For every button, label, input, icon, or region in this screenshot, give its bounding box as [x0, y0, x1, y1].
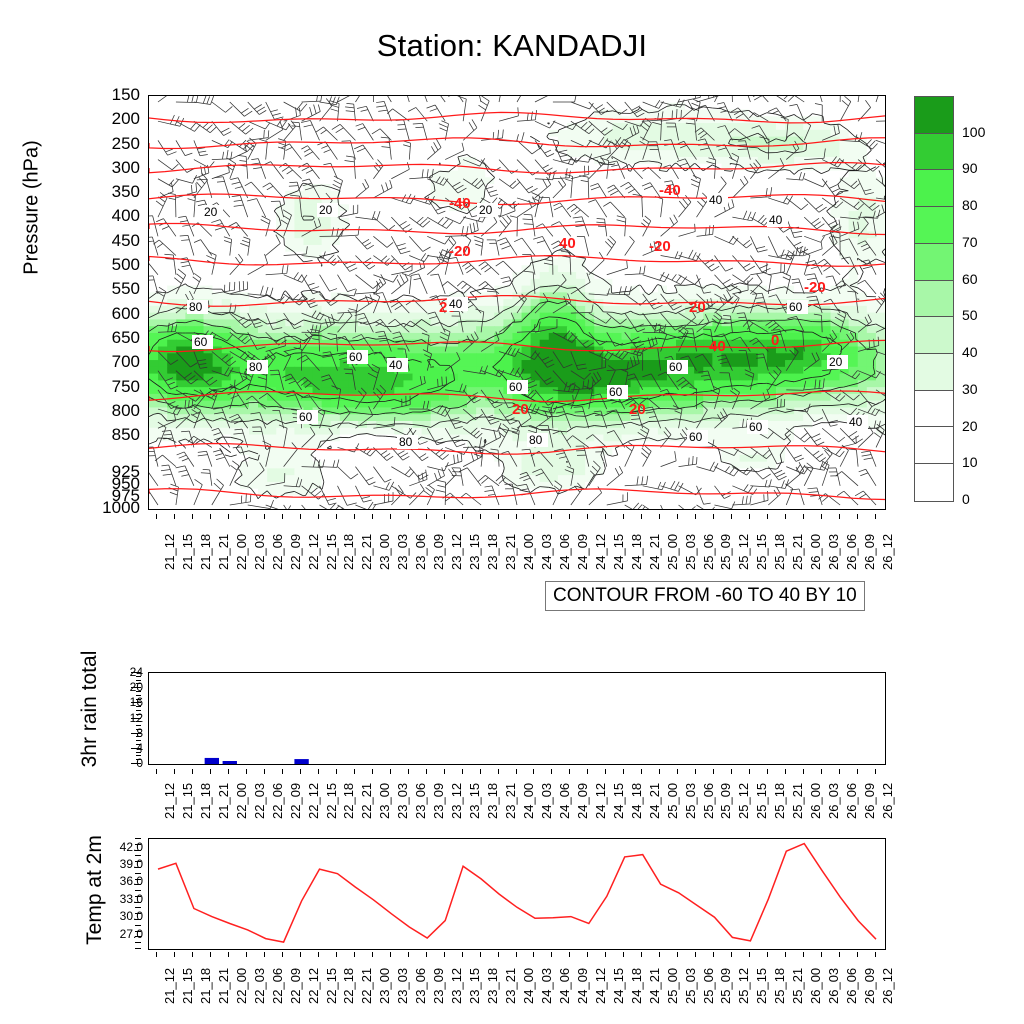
- axis-tick: [136, 683, 141, 684]
- axis-tick: [135, 838, 141, 839]
- page-title: Station: KANDADJI: [0, 28, 1024, 64]
- xaxis-tick-label: 22_09: [288, 534, 303, 570]
- axis-tick: [462, 769, 463, 774]
- xaxis-tick-label: 25_09: [718, 534, 733, 570]
- xaxis-tick-label: 26_12: [880, 968, 895, 1004]
- xaxis-tick-label: 26_09: [862, 968, 877, 1004]
- axis-tick: [623, 769, 624, 774]
- axis-tick: [135, 873, 141, 874]
- xaxis-tick-label: 26_12: [880, 534, 895, 570]
- temperature-line-plot: [148, 838, 886, 950]
- xaxis-tick-label: 24_00: [521, 968, 536, 1004]
- axis-tick: [803, 769, 804, 774]
- axis-tick: [192, 952, 193, 957]
- colorbar-tick-label: 20: [962, 418, 978, 434]
- axis-tick: [749, 514, 750, 519]
- xaxis-tick-label: 21_15: [180, 968, 195, 1004]
- axis-tick: [131, 672, 141, 673]
- xaxis-tick-label: 25_03: [683, 968, 698, 1004]
- xaxis-tick-label: 24_06: [557, 534, 572, 570]
- colorbar-tick-label: 0: [962, 491, 970, 507]
- axis-tick: [462, 952, 463, 957]
- xaxis-tick-label: 23_21: [503, 968, 518, 1004]
- cross-section-svg: -40-40-20-20-202020020204040202020404080…: [149, 96, 885, 509]
- yaxis-tick-label: 700: [80, 353, 140, 370]
- rain-panel-xtick-group: 21_1221_1521_1821_2122_0022_0322_0622_09…: [148, 769, 884, 825]
- axis-tick: [516, 514, 517, 519]
- xaxis-tick-label: 22_12: [306, 534, 321, 570]
- yaxis-tick-label: 36.0: [90, 875, 143, 887]
- axis-tick: [264, 514, 265, 519]
- axis-tick: [857, 514, 858, 519]
- axis-tick: [426, 769, 427, 774]
- axis-tick: [246, 769, 247, 774]
- axis-tick: [264, 769, 265, 774]
- xaxis-tick-label: 25_21: [790, 534, 805, 570]
- axis-tick: [300, 952, 301, 957]
- xaxis-tick-label: 23_06: [413, 534, 428, 570]
- xaxis-tick-label: 26_09: [862, 534, 877, 570]
- xaxis-tick-label: 25_06: [701, 968, 716, 1004]
- axis-tick: [551, 514, 552, 519]
- temp-panel-ytick-group: 42.039.036.033.030.027.0: [88, 832, 143, 954]
- yaxis-tick-label: 1000: [80, 499, 140, 516]
- colorbar-tick-label: 40: [962, 344, 978, 360]
- xaxis-tick-label: 22_03: [252, 534, 267, 570]
- xaxis-tick-label: 24_00: [521, 783, 536, 819]
- axis-tick: [192, 769, 193, 774]
- axis-tick: [135, 850, 141, 851]
- rain-svg: [149, 673, 885, 764]
- axis-tick: [857, 952, 858, 957]
- axis-tick: [839, 514, 840, 519]
- xaxis-tick-label: 24_18: [629, 534, 644, 570]
- axis-tick: [390, 769, 391, 774]
- axis-tick: [228, 952, 229, 957]
- rain-bar-plot: [148, 672, 886, 765]
- xaxis-tick-label: 22_21: [359, 783, 374, 819]
- axis-tick: [426, 514, 427, 519]
- yaxis-tick-label: 350: [80, 183, 140, 200]
- axis-tick: [731, 769, 732, 774]
- axis-tick: [135, 925, 141, 926]
- xaxis-tick-label: 25_03: [683, 783, 698, 819]
- axis-tick: [135, 867, 141, 868]
- humidity-colorbar: [914, 96, 954, 502]
- axis-tick: [516, 769, 517, 774]
- axis-tick: [136, 706, 141, 707]
- xaxis-tick-label: 25_00: [665, 968, 680, 1004]
- xaxis-tick-label: 24_21: [647, 534, 662, 570]
- xaxis-tick-label: 23_06: [413, 968, 428, 1004]
- xaxis-tick-label: 22_00: [234, 534, 249, 570]
- axis-tick: [677, 769, 678, 774]
- axis-tick: [135, 902, 141, 903]
- axis-tick: [135, 913, 141, 914]
- axis-tick: [731, 952, 732, 957]
- xaxis-tick-label: 21_12: [162, 534, 177, 570]
- xaxis-tick-label: 26_09: [862, 783, 877, 819]
- colorbar-swatch: [915, 391, 953, 428]
- axis-tick: [533, 952, 534, 957]
- axis-tick: [677, 952, 678, 957]
- contour-range-note: CONTOUR FROM -60 TO 40 BY 10: [545, 581, 865, 611]
- axis-tick: [408, 514, 409, 519]
- axis-tick: [372, 952, 373, 957]
- axis-tick: [480, 769, 481, 774]
- axis-tick: [135, 936, 141, 937]
- xaxis-tick-label: 26_06: [844, 534, 859, 570]
- xaxis-tick-label: 21_21: [216, 968, 231, 1004]
- axis-tick: [135, 844, 141, 845]
- xaxis-tick-label: 22_18: [341, 783, 356, 819]
- axis-tick: [136, 736, 141, 737]
- axis-tick: [156, 952, 157, 957]
- xaxis-tick-label: 21_21: [216, 534, 231, 570]
- axis-tick: [156, 769, 157, 774]
- colorbar-swatch: [915, 281, 953, 318]
- xaxis-tick-label: 25_03: [683, 534, 698, 570]
- xaxis-tick-label: 23_03: [395, 783, 410, 819]
- axis-tick: [569, 769, 570, 774]
- yaxis-tick-label: 27.0: [90, 928, 143, 940]
- axis-tick: [354, 514, 355, 519]
- axis-tick: [300, 514, 301, 519]
- xaxis-tick-label: 22_03: [252, 783, 267, 819]
- axis-tick: [821, 514, 822, 519]
- xaxis-tick-label: 23_06: [413, 783, 428, 819]
- xaxis-tick-label: 23_15: [467, 783, 482, 819]
- axis-tick: [336, 514, 337, 519]
- axis-tick: [136, 714, 141, 715]
- main-panel-xtick-group: 21_1221_1521_1821_2122_0022_0322_0622_09…: [148, 514, 884, 576]
- axis-tick: [605, 952, 606, 957]
- axis-tick: [875, 769, 876, 774]
- xaxis-tick-label: 26_03: [826, 783, 841, 819]
- axis-tick: [192, 514, 193, 519]
- xaxis-tick-label: 22_09: [288, 968, 303, 1004]
- axis-tick: [300, 769, 301, 774]
- yaxis-tick-label: 39.0: [90, 858, 143, 870]
- axis-tick: [569, 514, 570, 519]
- axis-tick: [749, 952, 750, 957]
- xaxis-tick-label: 26_06: [844, 968, 859, 1004]
- axis-tick: [659, 952, 660, 957]
- axis-tick: [318, 769, 319, 774]
- temperature-line: [158, 844, 876, 943]
- colorbar-tick-label: 30: [962, 381, 978, 397]
- axis-tick: [480, 952, 481, 957]
- xaxis-tick-label: 23_12: [449, 783, 464, 819]
- axis-tick: [695, 769, 696, 774]
- yaxis-tick-label: 200: [80, 110, 140, 127]
- axis-tick: [767, 769, 768, 774]
- xaxis-tick-label: 25_12: [736, 783, 751, 819]
- xaxis-tick-label: 23_00: [377, 968, 392, 1004]
- axis-tick: [480, 514, 481, 519]
- axis-tick: [875, 514, 876, 519]
- colorbar-swatch: [915, 207, 953, 244]
- xaxis-tick-label: 25_12: [736, 968, 751, 1004]
- axis-tick: [135, 907, 141, 908]
- axis-tick: [390, 514, 391, 519]
- xaxis-tick-label: 24_00: [521, 534, 536, 570]
- axis-tick: [821, 952, 822, 957]
- colorbar-swatch: [915, 427, 953, 464]
- colorbar-swatch: [915, 170, 953, 207]
- axis-tick: [444, 952, 445, 957]
- axis-tick: [174, 952, 175, 957]
- axis-tick: [136, 680, 141, 681]
- axis-tick: [372, 514, 373, 519]
- xaxis-tick-label: 23_00: [377, 783, 392, 819]
- axis-tick: [551, 769, 552, 774]
- axis-tick: [731, 514, 732, 519]
- axis-tick: [136, 740, 141, 741]
- xaxis-tick-label: 23_18: [485, 968, 500, 1004]
- axis-tick: [210, 952, 211, 957]
- xaxis-tick-label: 24_06: [557, 968, 572, 1004]
- axis-tick: [785, 769, 786, 774]
- xaxis-tick-label: 24_06: [557, 783, 572, 819]
- main-panel-ytick-group: 1502002503003504004505005506006507007508…: [78, 95, 140, 508]
- xaxis-tick-label: 25_18: [772, 783, 787, 819]
- axis-tick: [135, 931, 141, 932]
- xaxis-tick-label: 24_15: [611, 783, 626, 819]
- xaxis-tick-label: 25_09: [718, 968, 733, 1004]
- axis-tick: [136, 755, 141, 756]
- axis-tick: [131, 687, 141, 688]
- axis-tick: [136, 691, 141, 692]
- xaxis-tick-label: 21_18: [198, 783, 213, 819]
- axis-tick: [713, 514, 714, 519]
- xaxis-tick-label: 22_06: [270, 783, 285, 819]
- yaxis-tick-label: 150: [80, 86, 140, 103]
- xaxis-tick-label: 23_21: [503, 783, 518, 819]
- colorbar-swatch: [915, 354, 953, 391]
- xaxis-tick-label: 23_15: [467, 534, 482, 570]
- axis-tick: [695, 952, 696, 957]
- axis-tick: [131, 702, 141, 703]
- xaxis-tick-label: 24_21: [647, 783, 662, 819]
- xaxis-tick-label: 22_06: [270, 968, 285, 1004]
- xaxis-tick-label: 24_21: [647, 968, 662, 1004]
- axis-tick: [426, 952, 427, 957]
- temp-panel-xtick-group: 21_1221_1521_1821_2122_0022_0322_0622_09…: [148, 952, 884, 1010]
- axis-tick: [135, 855, 141, 856]
- xaxis-tick-label: 26_00: [808, 968, 823, 1004]
- axis-tick: [408, 952, 409, 957]
- axis-tick: [131, 718, 141, 719]
- yaxis-tick-label: 650: [80, 329, 140, 346]
- axis-tick: [136, 699, 141, 700]
- xaxis-tick-label: 21_21: [216, 783, 231, 819]
- xaxis-tick-label: 23_12: [449, 534, 464, 570]
- colorbar-swatch: [915, 244, 953, 281]
- xaxis-tick-label: 21_18: [198, 968, 213, 1004]
- xaxis-tick-label: 26_12: [880, 783, 895, 819]
- xaxis-tick-label: 25_15: [754, 783, 769, 819]
- axis-tick: [136, 725, 141, 726]
- xaxis-tick-label: 23_00: [377, 534, 392, 570]
- axis-tick: [641, 952, 642, 957]
- axis-tick: [228, 514, 229, 519]
- xaxis-tick-label: 23_09: [431, 534, 446, 570]
- axis-tick: [767, 514, 768, 519]
- xaxis-tick-label: 22_18: [341, 534, 356, 570]
- xaxis-tick-label: 23_18: [485, 534, 500, 570]
- xaxis-tick-label: 22_15: [324, 534, 339, 570]
- axis-tick: [136, 752, 141, 753]
- axis-tick: [282, 769, 283, 774]
- xaxis-tick-label: 24_12: [593, 783, 608, 819]
- colorbar-tick-label: 60: [962, 271, 978, 287]
- xaxis-tick-label: 22_12: [306, 968, 321, 1004]
- axis-tick: [533, 769, 534, 774]
- xaxis-tick-label: 24_03: [539, 783, 554, 819]
- axis-tick: [136, 721, 141, 722]
- axis-tick: [135, 861, 141, 862]
- xaxis-tick-label: 24_09: [575, 968, 590, 1004]
- axis-tick: [336, 952, 337, 957]
- axis-tick: [587, 769, 588, 774]
- axis-tick: [135, 948, 141, 949]
- axis-tick: [569, 952, 570, 957]
- axis-tick: [135, 919, 141, 920]
- xaxis-tick-label: 25_06: [701, 534, 716, 570]
- axis-tick: [135, 896, 141, 897]
- yaxis-tick-label: 850: [80, 426, 140, 443]
- axis-tick: [246, 514, 247, 519]
- axis-tick: [659, 514, 660, 519]
- xaxis-tick-label: 24_18: [629, 968, 644, 1004]
- xaxis-tick-label: 25_21: [790, 783, 805, 819]
- axis-tick: [318, 952, 319, 957]
- main-panel-ylabel: Pressure (hPa): [21, 58, 44, 358]
- xaxis-tick-label: 25_15: [754, 534, 769, 570]
- axis-tick: [390, 952, 391, 957]
- yaxis-tick-label: 33.0: [90, 893, 143, 905]
- axis-tick: [623, 952, 624, 957]
- colorbar-tick-label: 100: [962, 124, 985, 140]
- xaxis-tick-label: 22_00: [234, 968, 249, 1004]
- axis-tick: [605, 769, 606, 774]
- axis-tick: [135, 890, 141, 891]
- xaxis-tick-label: 22_21: [359, 534, 374, 570]
- axis-tick: [785, 514, 786, 519]
- xaxis-tick-label: 24_12: [593, 534, 608, 570]
- axis-tick: [136, 759, 141, 760]
- xaxis-tick-label: 25_09: [718, 783, 733, 819]
- xaxis-tick-label: 22_09: [288, 783, 303, 819]
- axis-tick: [135, 942, 141, 943]
- colorbar-tick-label: 70: [962, 234, 978, 250]
- axis-tick: [174, 514, 175, 519]
- yaxis-tick-label: 300: [80, 159, 140, 176]
- xaxis-tick-label: 22_18: [341, 968, 356, 1004]
- yaxis-tick-label: 800: [80, 402, 140, 419]
- yaxis-tick-label: 400: [80, 207, 140, 224]
- xaxis-tick-label: 22_15: [324, 968, 339, 1004]
- xaxis-tick-label: 22_15: [324, 783, 339, 819]
- colorbar-tick-label: 80: [962, 197, 978, 213]
- axis-tick: [516, 952, 517, 957]
- xaxis-tick-label: 26_03: [826, 534, 841, 570]
- axis-tick: [135, 879, 141, 880]
- xaxis-tick-label: 25_21: [790, 968, 805, 1004]
- colorbar-tick-label: 10: [962, 454, 978, 470]
- xaxis-tick-label: 23_21: [503, 534, 518, 570]
- axis-tick: [623, 514, 624, 519]
- axis-tick: [131, 763, 141, 764]
- xaxis-tick-label: 25_18: [772, 968, 787, 1004]
- axis-tick: [587, 514, 588, 519]
- yaxis-tick-label: 600: [80, 305, 140, 322]
- axis-tick: [136, 676, 141, 677]
- axis-tick: [695, 514, 696, 519]
- xaxis-tick-label: 25_15: [754, 968, 769, 1004]
- xaxis-tick-label: 23_03: [395, 534, 410, 570]
- yaxis-tick-label: 250: [80, 135, 140, 152]
- axis-tick: [210, 514, 211, 519]
- humidity-cross-section-plot: -40-40-20-20-202020020204040202020404080…: [148, 95, 886, 510]
- yaxis-tick-label: 30.0: [90, 910, 143, 922]
- axis-tick: [767, 952, 768, 957]
- axis-tick: [354, 952, 355, 957]
- axis-tick: [641, 769, 642, 774]
- axis-tick: [587, 952, 588, 957]
- xaxis-tick-label: 24_15: [611, 534, 626, 570]
- axis-tick: [713, 952, 714, 957]
- temp-svg: [149, 839, 885, 949]
- yaxis-tick-label: 500: [80, 256, 140, 273]
- colorbar-swatch: [915, 97, 953, 134]
- xaxis-tick-label: 22_00: [234, 783, 249, 819]
- axis-tick: [839, 769, 840, 774]
- axis-tick: [785, 952, 786, 957]
- yaxis-tick-label: 42.0: [90, 841, 143, 853]
- yaxis-tick-label: 450: [80, 232, 140, 249]
- xaxis-tick-label: 24_18: [629, 783, 644, 819]
- axis-tick: [136, 695, 141, 696]
- xaxis-tick-label: 25_06: [701, 783, 716, 819]
- xaxis-tick-label: 22_06: [270, 534, 285, 570]
- xaxis-tick-label: 24_03: [539, 968, 554, 1004]
- axis-tick: [136, 729, 141, 730]
- axis-tick: [318, 514, 319, 519]
- axis-tick: [803, 952, 804, 957]
- axis-tick: [498, 514, 499, 519]
- xaxis-tick-label: 24_15: [611, 968, 626, 1004]
- xaxis-tick-label: 21_18: [198, 534, 213, 570]
- yaxis-tick-label: 550: [80, 280, 140, 297]
- xaxis-tick-label: 21_12: [162, 783, 177, 819]
- axis-tick: [156, 514, 157, 519]
- axis-tick: [533, 514, 534, 519]
- xaxis-tick-label: 21_15: [180, 534, 195, 570]
- axis-tick: [174, 769, 175, 774]
- axis-tick: [131, 733, 141, 734]
- axis-tick: [857, 769, 858, 774]
- rain-bars: [205, 758, 309, 764]
- xaxis-tick-label: 22_21: [359, 968, 374, 1004]
- axis-tick: [228, 769, 229, 774]
- axis-tick: [821, 769, 822, 774]
- yaxis-tick-label: 750: [80, 378, 140, 395]
- xaxis-tick-label: 24_12: [593, 968, 608, 1004]
- xaxis-tick-label: 24_03: [539, 534, 554, 570]
- axis-tick: [131, 748, 141, 749]
